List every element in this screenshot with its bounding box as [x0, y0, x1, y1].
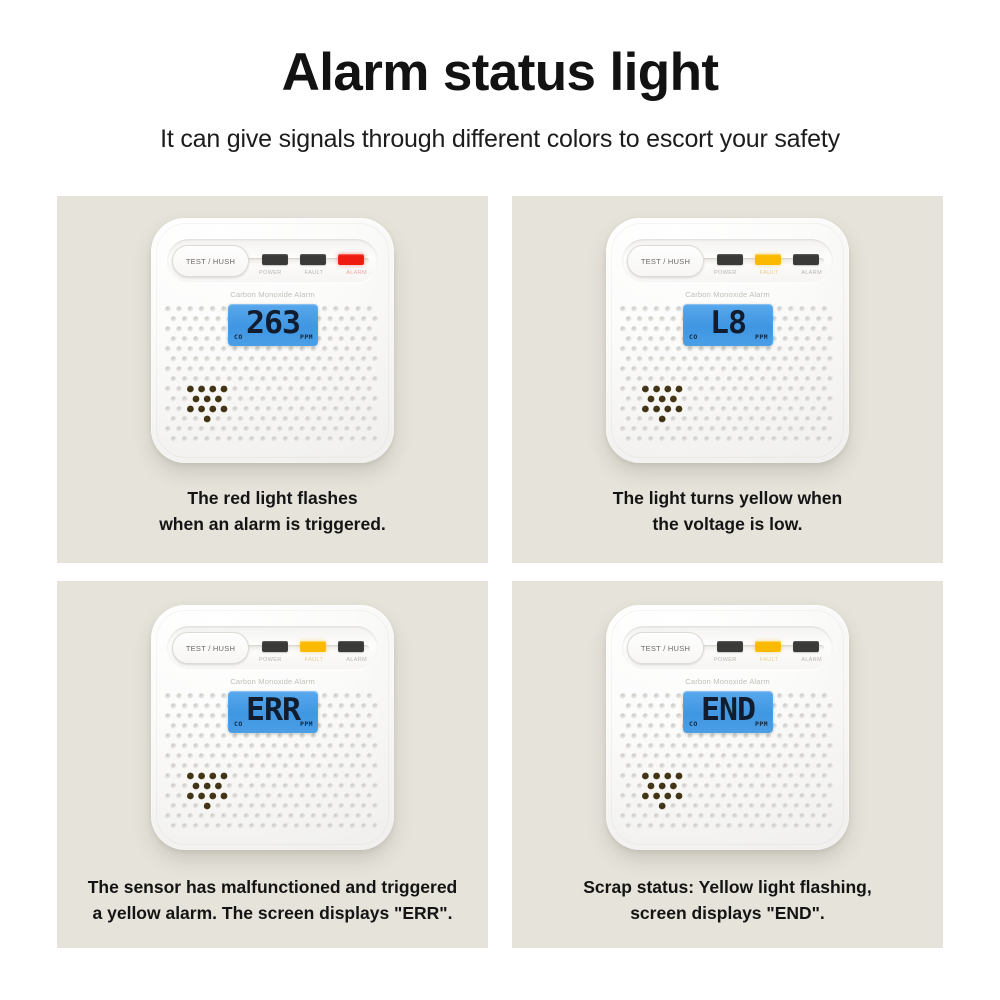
lcd-display: ERR CO PPM — [228, 691, 318, 733]
led-row — [717, 641, 819, 655]
alarm-led — [338, 254, 364, 265]
caption-line: Scrap status: Yellow light flashing, — [520, 875, 935, 900]
status-panel-alarm-triggered: TEST / HUSH POWER FAULT ALARM Carbon Mon… — [57, 196, 488, 563]
control-strip: TEST / HUSH POWER FAULT ALARM — [622, 626, 833, 670]
page-subtitle: It can give signals through different co… — [0, 99, 1000, 154]
led-label-row: POWER FAULT ALARM — [714, 657, 822, 663]
alarm-led — [338, 641, 364, 652]
power-led — [262, 641, 288, 652]
lcd-ppm-label: PPM — [755, 720, 768, 728]
caption-line: screen displays "END". — [520, 901, 935, 926]
power-led-label: POWER — [259, 270, 282, 276]
lcd-display: END CO PPM — [683, 691, 773, 733]
test-hush-button[interactable]: TEST / HUSH — [172, 245, 249, 277]
led-label-row: POWER FAULT ALARM — [259, 270, 367, 276]
test-hush-button[interactable]: TEST / HUSH — [172, 632, 249, 664]
caption-line: The sensor has malfunctioned and trigger… — [65, 875, 480, 900]
co-alarm-device: TEST / HUSH POWER FAULT ALARM Carbon Mon… — [606, 605, 849, 850]
lcd-ppm-label: PPM — [300, 333, 313, 341]
status-panel-scrap-status: TEST / HUSH POWER FAULT ALARM Carbon Mon… — [512, 581, 943, 948]
alarm-led-label: ALARM — [801, 657, 822, 663]
power-led-label: POWER — [714, 657, 737, 663]
fault-led-label: FAULT — [760, 657, 779, 663]
page-title: Alarm status light — [0, 0, 1000, 99]
fault-led — [300, 254, 326, 265]
lcd-co-label: CO — [234, 333, 243, 341]
fault-led — [755, 641, 781, 652]
device-brand-label: Carbon Monoxide Alarm — [606, 677, 849, 686]
device-brand-label: Carbon Monoxide Alarm — [606, 290, 849, 299]
status-panel-low-voltage: TEST / HUSH POWER FAULT ALARM Carbon Mon… — [512, 196, 943, 563]
power-led-label: POWER — [714, 270, 737, 276]
alarm-led-label: ALARM — [346, 657, 367, 663]
led-row — [717, 254, 819, 268]
alarm-led-label: ALARM — [346, 270, 367, 276]
status-panel-grid: TEST / HUSH POWER FAULT ALARM Carbon Mon… — [57, 196, 943, 948]
caption-line: when an alarm is triggered. — [65, 512, 480, 537]
caption-line: a yellow alarm. The screen displays "ERR… — [65, 901, 480, 926]
page-header: Alarm status light It can give signals t… — [0, 0, 1000, 154]
lcd-ppm-label: PPM — [755, 333, 768, 341]
lcd-co-label: CO — [689, 720, 698, 728]
power-led-label: POWER — [259, 657, 282, 663]
caption-line: The red light flashes — [65, 486, 480, 511]
fault-led-label: FAULT — [305, 657, 324, 663]
device-brand-label: Carbon Monoxide Alarm — [151, 290, 394, 299]
fault-led — [755, 254, 781, 265]
fault-led — [300, 641, 326, 652]
control-strip: TEST / HUSH POWER FAULT ALARM — [167, 239, 378, 283]
test-hush-button[interactable]: TEST / HUSH — [627, 632, 704, 664]
control-strip: TEST / HUSH POWER FAULT ALARM — [167, 626, 378, 670]
control-strip: TEST / HUSH POWER FAULT ALARM — [622, 239, 833, 283]
fault-led-label: FAULT — [305, 270, 324, 276]
lcd-ppm-label: PPM — [300, 720, 313, 728]
led-row — [262, 641, 364, 655]
caption-line: The light turns yellow when — [520, 486, 935, 511]
led-label-row: POWER FAULT ALARM — [259, 657, 367, 663]
infographic-page: Alarm status light It can give signals t… — [0, 0, 1000, 1000]
caption-line: the voltage is low. — [520, 512, 935, 537]
led-row — [262, 254, 364, 268]
panel-caption: The red light flashes when an alarm is t… — [57, 486, 488, 537]
lcd-co-label: CO — [689, 333, 698, 341]
power-led — [262, 254, 288, 265]
fault-led-label: FAULT — [760, 270, 779, 276]
lcd-display: 263 CO PPM — [228, 304, 318, 346]
co-alarm-device: TEST / HUSH POWER FAULT ALARM Carbon Mon… — [151, 218, 394, 463]
panel-caption: Scrap status: Yellow light flashing, scr… — [512, 875, 943, 926]
led-label-row: POWER FAULT ALARM — [714, 270, 822, 276]
alarm-led — [793, 641, 819, 652]
alarm-led-label: ALARM — [801, 270, 822, 276]
power-led — [717, 641, 743, 652]
power-led — [717, 254, 743, 265]
panel-caption: The light turns yellow when the voltage … — [512, 486, 943, 537]
test-hush-button[interactable]: TEST / HUSH — [627, 245, 704, 277]
panel-caption: The sensor has malfunctioned and trigger… — [57, 875, 488, 926]
co-alarm-device: TEST / HUSH POWER FAULT ALARM Carbon Mon… — [151, 605, 394, 850]
status-panel-sensor-malfunction: TEST / HUSH POWER FAULT ALARM Carbon Mon… — [57, 581, 488, 948]
alarm-led — [793, 254, 819, 265]
lcd-display: L8 CO PPM — [683, 304, 773, 346]
co-alarm-device: TEST / HUSH POWER FAULT ALARM Carbon Mon… — [606, 218, 849, 463]
lcd-co-label: CO — [234, 720, 243, 728]
device-brand-label: Carbon Monoxide Alarm — [151, 677, 394, 686]
